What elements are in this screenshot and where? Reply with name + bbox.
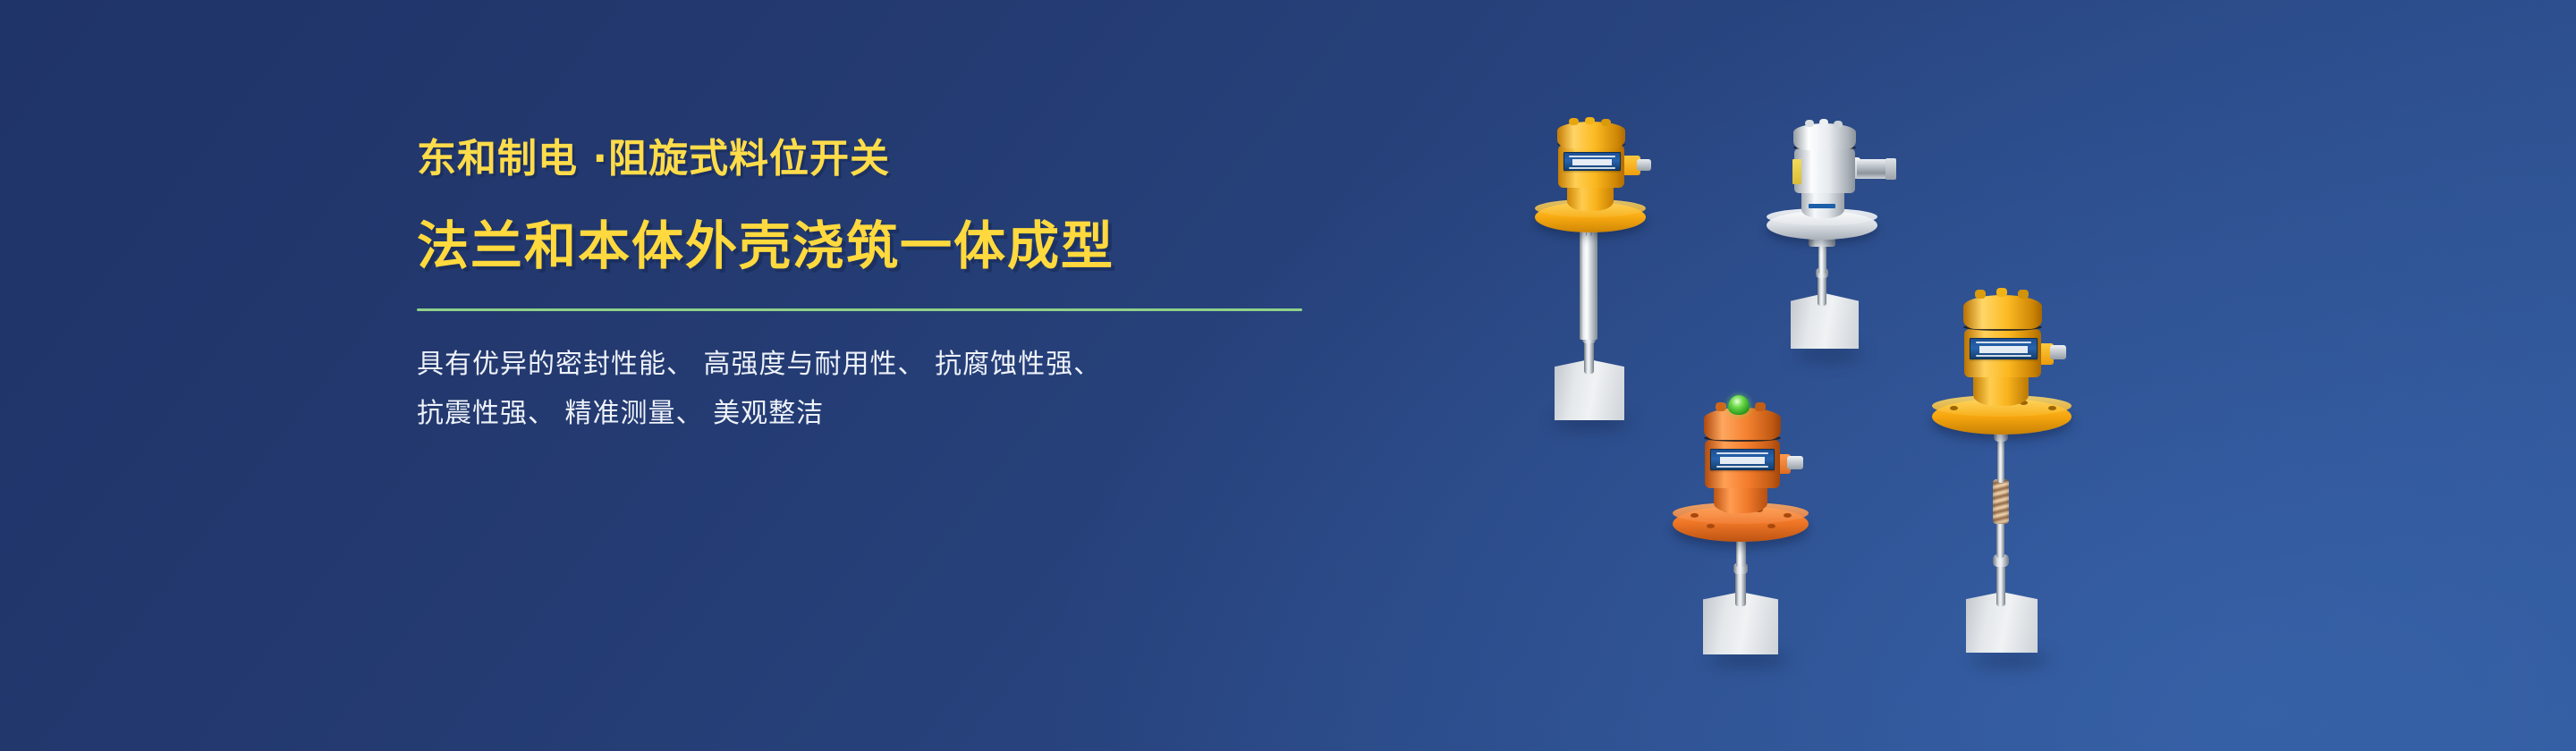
cap-ridge-icon xyxy=(2018,290,2029,299)
conduit-stainless-fitting xyxy=(1857,159,1889,179)
housing-cap xyxy=(1963,295,2042,329)
product-nameplate xyxy=(1563,152,1621,171)
housing-body xyxy=(1794,148,1855,193)
banner-headline: 法兰和本体外壳浇筑一体成型 xyxy=(417,215,1356,278)
conduit-end-cap xyxy=(1885,158,1896,180)
conduit-gland xyxy=(1787,456,1803,469)
product-rotary-level-switch-white-compact xyxy=(1762,107,1959,375)
product-nameplate xyxy=(1710,449,1775,470)
banner-eyebrow: 东和制电 ·阻旋式料位开关 xyxy=(417,134,1356,183)
product-rotary-level-switch-orange-flanged xyxy=(1662,340,1885,662)
flange-bolt-hole xyxy=(1767,524,1775,528)
conduit-gland xyxy=(2050,345,2066,359)
cap-ridge-icon xyxy=(1585,117,1595,124)
flange-bolt-hole xyxy=(1950,406,1958,410)
banner-body-copy: 具有优异的密封性能、 高强度与耐用性、 抗腐蚀性强、 抗震性强、 精准测量、 美… xyxy=(417,340,1356,439)
paddle-coupling xyxy=(1818,274,1826,306)
housing-cap xyxy=(1793,123,1856,150)
upper-rod xyxy=(1997,436,2004,483)
lower-rod xyxy=(1996,519,2004,558)
flange-bolt-hole xyxy=(1707,524,1715,528)
paddle-coupling xyxy=(1584,338,1594,374)
body-line-2: 抗震性强、 精准测量、 美观整洁 xyxy=(417,389,1356,439)
cap-ridge-icon xyxy=(1716,402,1726,411)
neck-blue-strip xyxy=(1809,204,1835,208)
side-sticker xyxy=(1792,159,1801,184)
conduit-gland xyxy=(1637,159,1651,171)
product-nameplate xyxy=(1970,338,2038,359)
product-rotary-level-switch-yellow-spring-extension xyxy=(1930,277,2154,662)
divider-line xyxy=(417,308,1302,311)
body-line-1: 具有优异的密封性能、 高强度与耐用性、 抗腐蚀性强、 xyxy=(417,340,1356,390)
extension-shaft xyxy=(1580,222,1597,340)
cap-ridge-icon xyxy=(1996,288,2007,297)
paddle-coupling xyxy=(1735,569,1746,606)
flange-bolt-hole xyxy=(2048,406,2056,410)
cap-ridge-icon xyxy=(1569,118,1579,125)
cap-ridge-icon xyxy=(1975,290,1986,299)
flange-bolt-hole xyxy=(1690,513,1699,518)
cap-ridge-icon xyxy=(1601,119,1611,126)
product-image-group xyxy=(1503,107,2147,644)
cap-ridge-icon xyxy=(1805,120,1814,127)
cap-ridge-icon xyxy=(1819,119,1828,126)
product-banner: 东和制电 ·阻旋式料位开关 法兰和本体外壳浇筑一体成型 具有优异的密封性能、 高… xyxy=(0,0,2576,751)
cap-ridge-icon xyxy=(1834,121,1843,128)
flange-bolt-hole xyxy=(1784,513,1792,518)
cap-ridge-icon xyxy=(1755,402,1766,411)
product-shadow xyxy=(1971,653,2050,667)
spring-extension xyxy=(1993,479,2009,524)
status-led-indicator xyxy=(1728,395,1750,415)
housing-cap xyxy=(1557,122,1625,148)
banner-copy-block: 东和制电 ·阻旋式料位开关 法兰和本体外壳浇筑一体成型 具有优异的密封性能、 高… xyxy=(417,134,1356,439)
